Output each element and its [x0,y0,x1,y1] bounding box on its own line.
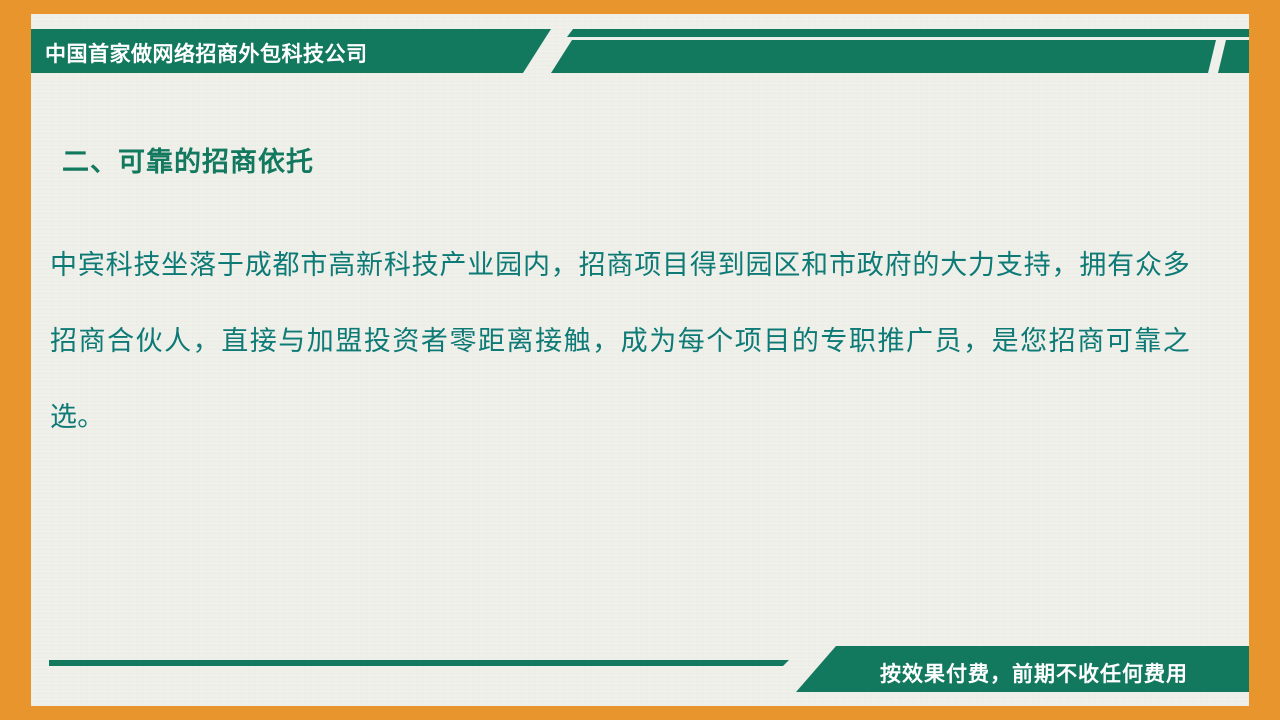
header-stripe-bottom [551,40,1249,73]
section-title: 二、可靠的招商依托 [62,140,314,179]
header-title: 中国首家做网络招商外包科技公司 [45,38,368,68]
header-band: 中国首家做网络招商外包科技公司 [31,29,1249,73]
footer-stripe [49,660,789,666]
footer-band: 按效果付费，前期不收任何费用 [31,646,1249,692]
slide: 中国首家做网络招商外包科技公司 二、可靠的招商依托 中宾科技坐落于成都市高新科技… [0,0,1280,720]
header-stripe-top [567,29,1249,37]
section-paragraph: 中宾科技坐落于成都市高新科技产业园内，招商项目得到园区和市政府的大力支持，拥有众… [50,228,1190,456]
footer-text: 按效果付费，前期不收任何费用 [880,658,1188,688]
